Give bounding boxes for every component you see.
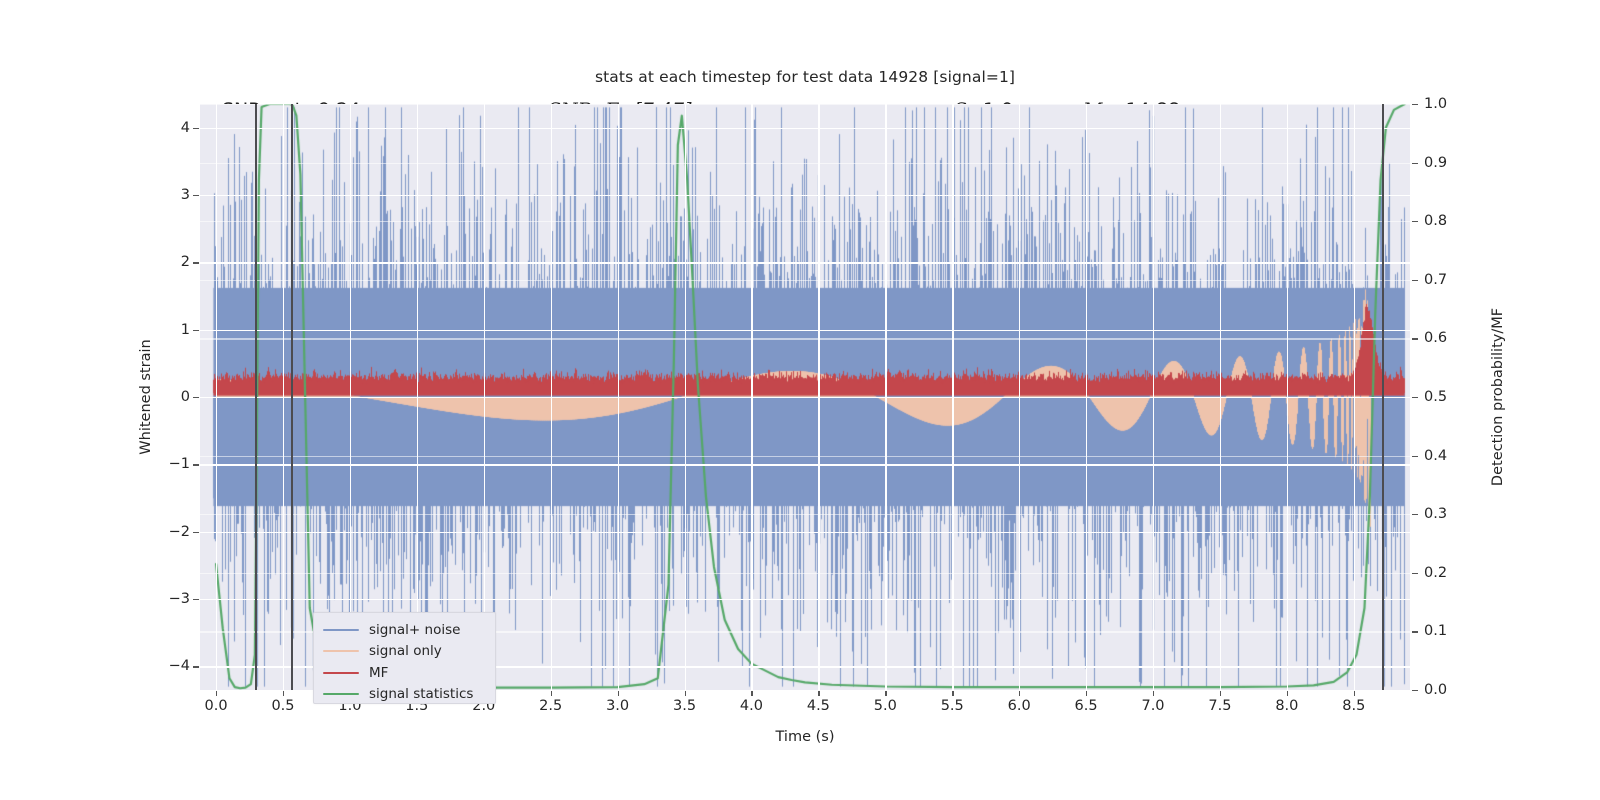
y-tick-mark-right: [1412, 514, 1418, 515]
y-tick-mark-left: [193, 532, 199, 533]
gridline-vertical: [1086, 104, 1087, 690]
x-tick-label: 7.0: [1141, 698, 1164, 714]
y-tick-label-right: 0.4: [1424, 448, 1447, 464]
page-title: stats at each timestep for test data 149…: [200, 68, 1410, 86]
y-tick-label-left: −1: [150, 456, 190, 472]
gridline-vertical: [417, 104, 418, 690]
y-tick-mark-left: [193, 666, 199, 667]
y-tick-label-right: 0.5: [1424, 389, 1447, 405]
y-tick-mark-left: [193, 397, 199, 398]
legend-swatch-mf: [323, 672, 359, 674]
x-tick-mark: [1019, 691, 1020, 696]
legend-item-signal-only[interactable]: signal only: [314, 641, 495, 663]
legend-item-signal-noise[interactable]: signal+ noise: [314, 619, 495, 641]
x-tick-label: 5.0: [874, 698, 897, 714]
legend-label-mf: MF: [369, 665, 388, 681]
y-tick-label-left: −3: [150, 591, 190, 607]
x-tick-label: 0.0: [205, 698, 228, 714]
x-tick-label: 8.5: [1342, 698, 1365, 714]
gridline-horizontal-secondary: [200, 397, 1410, 398]
y-tick-mark-right: [1412, 397, 1418, 398]
gridline-vertical: [1019, 104, 1020, 690]
x-tick-mark: [1086, 691, 1087, 696]
gridline-horizontal: [200, 599, 1410, 600]
x-tick-label: 5.5: [941, 698, 964, 714]
x-tick-label: 4.0: [740, 698, 763, 714]
legend-label-signal-noise: signal+ noise: [369, 622, 460, 638]
y-tick-label-right: 0.7: [1424, 272, 1447, 288]
x-tick-mark: [685, 691, 686, 696]
y-tick-mark-right: [1412, 690, 1418, 691]
x-tick-label: 8.0: [1275, 698, 1298, 714]
x-tick-mark: [952, 691, 953, 696]
x-axis-label: Time (s): [200, 729, 1410, 745]
gridline-vertical: [885, 104, 886, 690]
legend-swatch-signal-only: [323, 650, 359, 652]
gridline-horizontal: [200, 464, 1410, 465]
y-tick-label-right: 0.8: [1424, 213, 1447, 229]
gridline-vertical: [1287, 104, 1288, 690]
y-tick-label-left: −2: [150, 524, 190, 540]
y-tick-mark-right: [1412, 456, 1418, 457]
y-tick-label-right: 0.3: [1424, 506, 1447, 522]
gridline-horizontal: [200, 532, 1410, 533]
x-tick-mark: [283, 691, 284, 696]
y-tick-label-right: 0.6: [1424, 330, 1447, 346]
legend-item-signal-statistics[interactable]: signal statistics: [314, 684, 495, 706]
gridline-vertical: [1354, 104, 1355, 690]
x-tick-mark: [818, 691, 819, 696]
x-tick-label: 0.5: [271, 698, 294, 714]
x-tick-label: 2.5: [539, 698, 562, 714]
y-tick-label-left: 3: [150, 187, 190, 203]
y-axis-label-right: Detection probability/MF: [1490, 308, 1506, 486]
vertical-marker-line: [255, 104, 257, 690]
vertical-marker-line: [1382, 104, 1384, 690]
x-tick-label: 3.0: [606, 698, 629, 714]
legend-item-mf[interactable]: MF: [314, 662, 495, 684]
x-tick-mark: [216, 691, 217, 696]
gridline-horizontal: [200, 128, 1410, 129]
y-tick-mark-right: [1412, 280, 1418, 281]
y-tick-mark-left: [193, 464, 199, 465]
gridline-horizontal: [200, 195, 1410, 196]
x-tick-mark: [1287, 691, 1288, 696]
gridline-vertical: [685, 104, 686, 690]
x-tick-mark: [751, 691, 752, 696]
x-tick-mark: [618, 691, 619, 696]
gridline-vertical: [1153, 104, 1154, 690]
vertical-marker-line: [291, 104, 293, 690]
gridline-horizontal-secondary: [200, 514, 1410, 515]
x-tick-label: 4.5: [807, 698, 830, 714]
y-tick-label-left: 4: [150, 120, 190, 136]
legend[interactable]: signal+ noise signal only MF signal stat…: [313, 612, 496, 704]
y-tick-mark-right: [1412, 163, 1418, 164]
legend-label-signal-statistics: signal statistics: [369, 686, 473, 702]
gridline-vertical: [484, 104, 485, 690]
legend-swatch-signal-statistics: [323, 693, 359, 695]
legend-swatch-signal-noise: [323, 629, 359, 631]
x-tick-mark: [1354, 691, 1355, 696]
gridline-vertical: [551, 104, 552, 690]
x-tick-label: 7.5: [1208, 698, 1231, 714]
y-tick-label-left: −4: [150, 658, 190, 674]
y-tick-label-left: 2: [150, 254, 190, 270]
x-tick-mark: [551, 691, 552, 696]
y-tick-mark-left: [193, 330, 199, 331]
y-tick-mark-left: [193, 195, 199, 196]
y-tick-label-right: 0.1: [1424, 623, 1447, 639]
y-tick-label-right: 0.2: [1424, 565, 1447, 581]
x-tick-mark: [1220, 691, 1221, 696]
plot-area: [200, 104, 1410, 690]
gridline-vertical: [283, 104, 284, 690]
gridline-vertical: [952, 104, 953, 690]
gridline-horizontal-secondary: [200, 221, 1410, 222]
gridline-vertical: [818, 104, 819, 690]
x-tick-label: 6.0: [1008, 698, 1031, 714]
y-tick-label-right: 0.9: [1424, 155, 1447, 171]
x-tick-mark: [1153, 691, 1154, 696]
y-tick-label-left: 0: [150, 389, 190, 405]
gridline-horizontal: [200, 262, 1410, 263]
y-tick-mark-right: [1412, 631, 1418, 632]
figure-canvas: stats at each timestep for test data 149…: [0, 0, 1600, 800]
gridline-vertical: [618, 104, 619, 690]
gridline-horizontal-secondary: [200, 280, 1410, 281]
gridline-horizontal-secondary: [200, 338, 1410, 339]
y-tick-label-right: 1.0: [1424, 96, 1447, 112]
y-tick-mark-right: [1412, 104, 1418, 105]
gridline-horizontal-secondary: [200, 573, 1410, 574]
gridline-vertical: [350, 104, 351, 690]
y-tick-mark-left: [193, 262, 199, 263]
gridline-vertical: [216, 104, 217, 690]
y-tick-mark-right: [1412, 221, 1418, 222]
x-tick-label: 3.5: [673, 698, 696, 714]
gridline-horizontal-secondary: [200, 163, 1410, 164]
x-tick-mark: [885, 691, 886, 696]
y-tick-mark-right: [1412, 573, 1418, 574]
x-tick-label: 6.5: [1075, 698, 1098, 714]
y-tick-mark-right: [1412, 338, 1418, 339]
y-tick-mark-left: [193, 128, 199, 129]
gridline-vertical: [751, 104, 752, 690]
gridline-vertical: [1220, 104, 1221, 690]
legend-label-signal-only: signal only: [369, 643, 442, 659]
gridline-horizontal-secondary: [200, 456, 1410, 457]
gridline-horizontal: [200, 330, 1410, 331]
y-tick-mark-left: [193, 599, 199, 600]
y-tick-label-right: 0.0: [1424, 682, 1447, 698]
y-tick-label-left: 1: [150, 322, 190, 338]
gridline-horizontal-secondary: [200, 104, 1410, 105]
